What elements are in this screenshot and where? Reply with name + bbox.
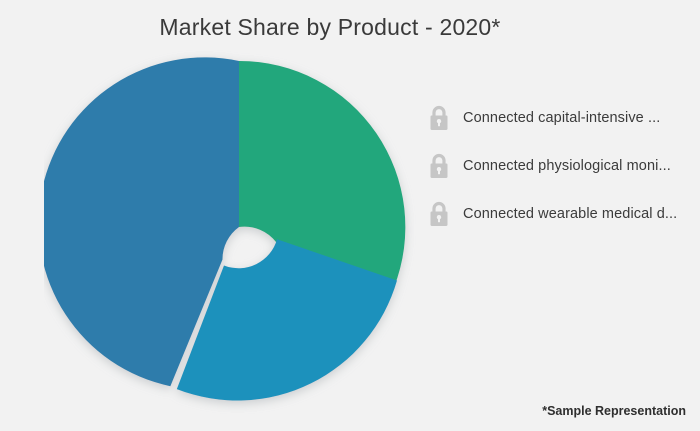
legend-label: Connected capital-intensive ...	[463, 110, 660, 126]
donut-slices-group	[44, 57, 405, 400]
legend-item-connected-wearable-medical-devices[interactable]: Connected wearable medical d...	[425, 190, 700, 238]
donut-chart	[44, 32, 434, 422]
donut-slice-connected-capital-intensive[interactable]	[239, 61, 405, 287]
legend-item-connected-capital-intensive[interactable]: Connected capital-intensive ...	[425, 94, 700, 142]
legend-label: Connected wearable medical d...	[463, 206, 677, 222]
lock-icon	[425, 151, 453, 181]
lock-icon	[425, 199, 453, 229]
legend-item-connected-physiological-monitoring[interactable]: Connected physiological moni...	[425, 142, 700, 190]
chart-legend: Connected capital-intensive ... Connecte…	[425, 94, 700, 238]
chart-container: Market Share by Product - 2020*	[0, 0, 700, 431]
donut-chart-svg	[44, 32, 434, 422]
lock-icon	[425, 103, 453, 133]
footnote-sample-representation: *Sample Representation	[542, 404, 686, 418]
legend-label: Connected physiological moni...	[463, 158, 671, 174]
